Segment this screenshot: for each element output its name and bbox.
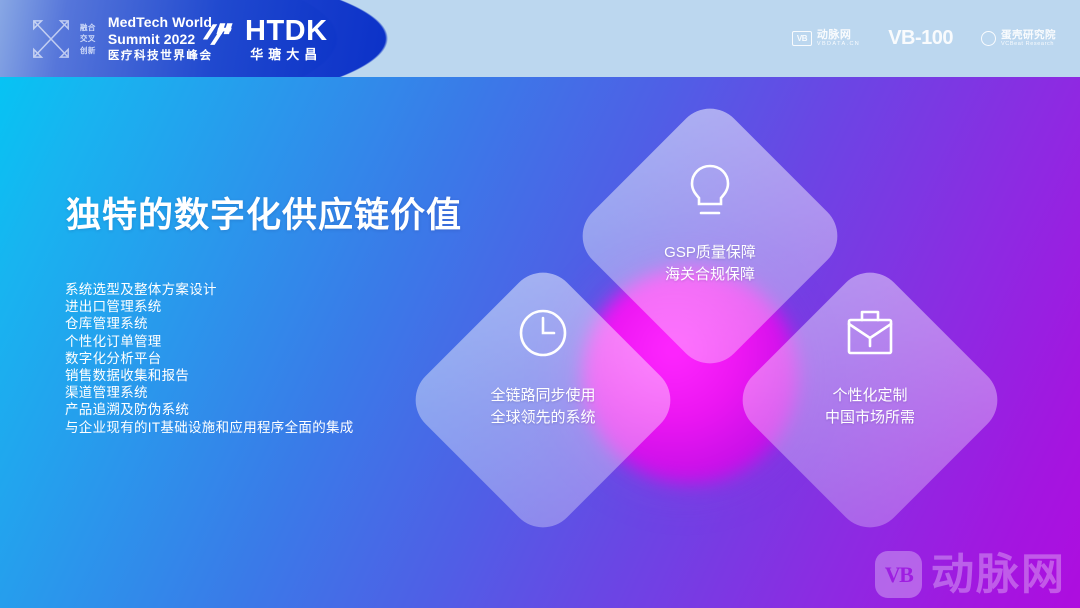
partner-logo-vbdata: VB 动脉网 VBDATA.CN bbox=[792, 29, 860, 48]
vcbeat-cn: 蛋壳研究院 bbox=[1001, 29, 1056, 41]
list-item: 仓库管理系统 bbox=[65, 315, 354, 332]
header-bar: 融合 交叉 创新 MedTech World Summit 2022 医疗科技世… bbox=[0, 0, 1080, 77]
slide-canvas: 融合 交叉 创新 MedTech World Summit 2022 医疗科技世… bbox=[0, 0, 1080, 608]
htdk-logo: HTDK 华瑭大昌 bbox=[202, 16, 328, 63]
medtech-title-line2: Summit 2022 bbox=[108, 31, 213, 48]
vb100-logo-icon: VB-100 bbox=[888, 27, 953, 50]
list-item: 销售数据收集和报告 bbox=[65, 367, 354, 384]
list-item: 数字化分析平台 bbox=[65, 350, 354, 367]
medtech-sub-1: 融合 bbox=[80, 22, 96, 34]
medtech-sub-2: 交叉 bbox=[80, 33, 96, 45]
list-item: 进出口管理系统 bbox=[65, 298, 354, 315]
vbdata-en: VBDATA.CN bbox=[817, 41, 860, 48]
watermark-text: 动脉网 bbox=[931, 553, 1066, 597]
list-item: 渠道管理系统 bbox=[65, 384, 354, 401]
vbdata-cn: 动脉网 bbox=[817, 29, 860, 41]
list-item: 个性化订单管理 bbox=[65, 333, 354, 350]
medtech-title-line3: 医疗科技世界峰会 bbox=[108, 48, 213, 64]
page-title: 独特的数字化供应链价值 bbox=[66, 192, 462, 240]
watermark-vbdata: VB 动脉网 bbox=[875, 551, 1066, 598]
list-item: 产品追溯及防伪系统 bbox=[65, 401, 354, 418]
vb-box-icon: VB bbox=[792, 31, 812, 46]
medtech-title-line1: MedTech World bbox=[108, 14, 213, 31]
circle-o-icon bbox=[981, 31, 996, 46]
partner-logo-vb100: VB-100 bbox=[888, 27, 953, 50]
x-cross-logo-icon bbox=[30, 17, 72, 61]
feature-list: 系统选型及整体方案设计 进出口管理系统 仓库管理系统 个性化订单管理 数字化分析… bbox=[65, 281, 354, 436]
medtech-sub-3: 创新 bbox=[80, 45, 96, 57]
partner-logo-vcbeat: 蛋壳研究院 VCBeat Research bbox=[981, 29, 1056, 48]
list-item: 与企业现有的IT基础设施和应用程序全面的集成 bbox=[65, 419, 354, 436]
htdk-cn-text: 华瑭大昌 bbox=[245, 47, 328, 63]
watermark-badge-icon: VB bbox=[875, 551, 922, 598]
medtech-sub-lines: 融合 交叉 创新 bbox=[80, 22, 96, 57]
medtech-summit-logo: 融合 交叉 创新 MedTech World Summit 2022 医疗科技世… bbox=[30, 14, 213, 64]
list-item: 系统选型及整体方案设计 bbox=[65, 281, 354, 298]
htdk-en-text: HTDK bbox=[245, 16, 328, 46]
partner-logo-group: VB 动脉网 VBDATA.CN VB-100 蛋壳研究院 VCBeat Res… bbox=[792, 0, 1056, 77]
htdk-mark-icon bbox=[202, 21, 238, 49]
vcbeat-en: VCBeat Research bbox=[1001, 41, 1056, 48]
